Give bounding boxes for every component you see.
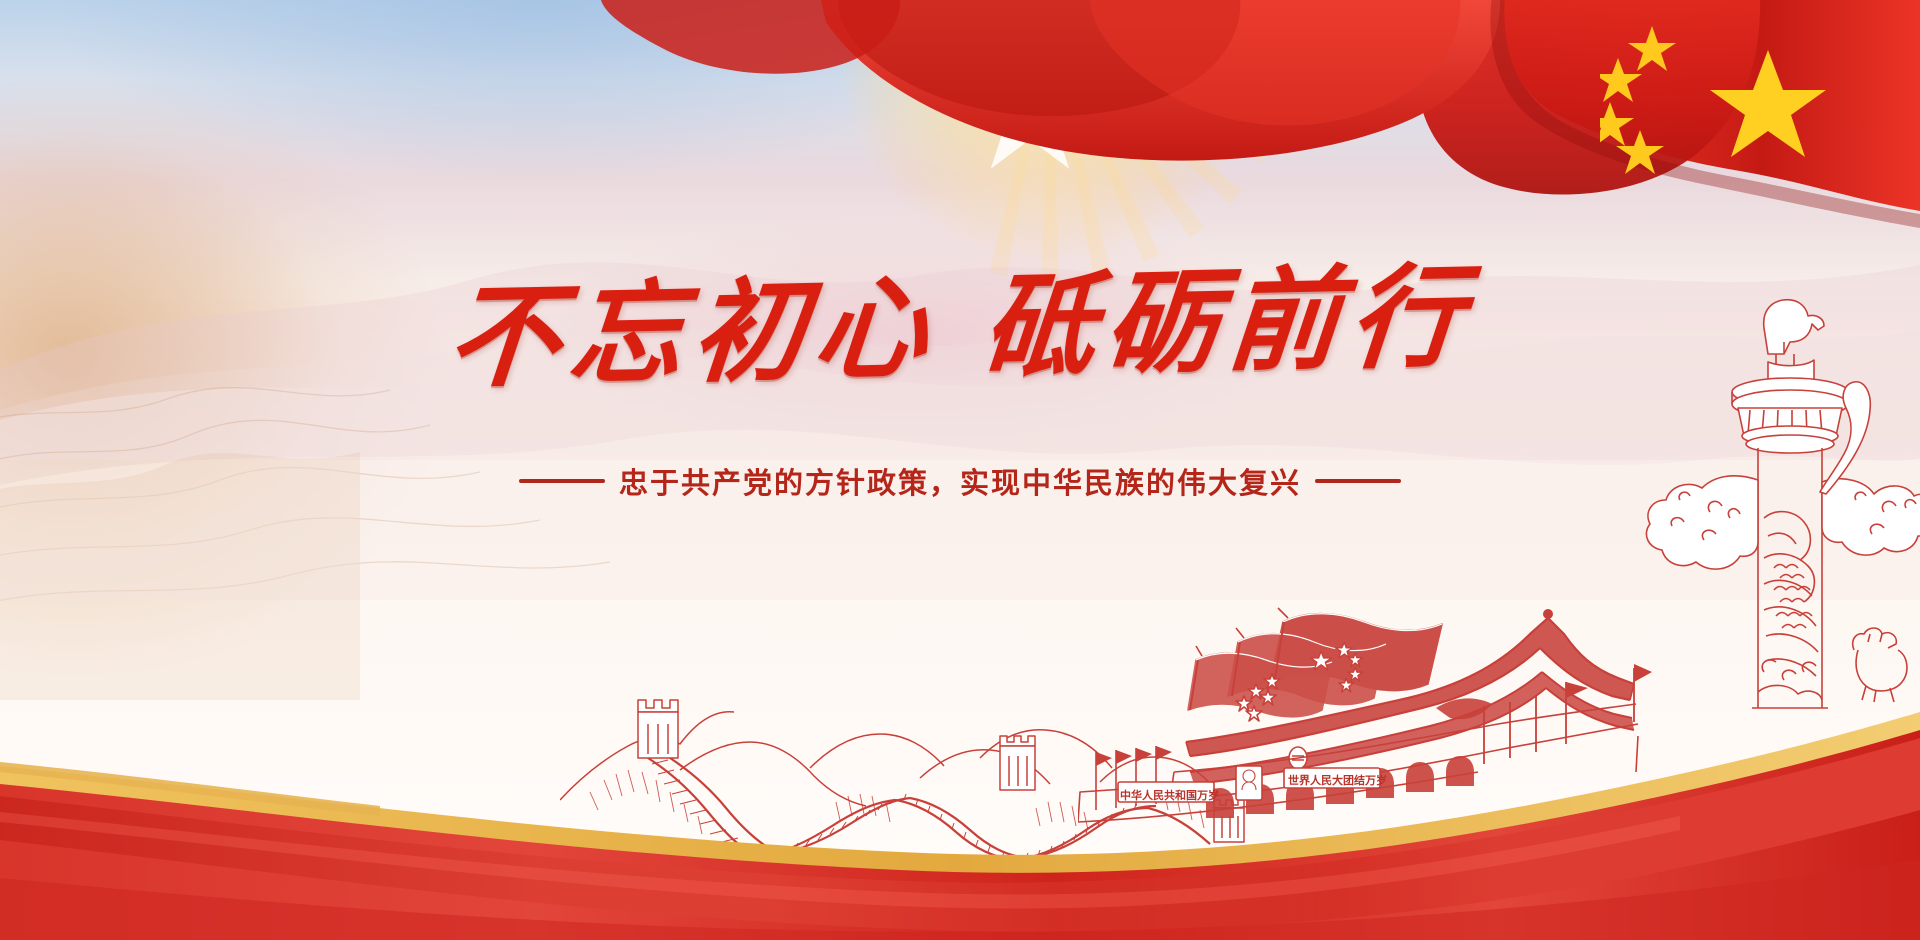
flag-star-small-3: [1600, 102, 1634, 146]
subtitle-rule-left: [519, 479, 605, 483]
subtitle-rule-right: [1315, 479, 1401, 483]
poster-subtitle: 忠于共产党的方针政策，实现中华民族的伟大复兴: [619, 460, 1301, 502]
flag-star-large: [1710, 50, 1826, 157]
flag-star-small-4: [1616, 130, 1664, 174]
flag-star-small-1: [1628, 26, 1676, 71]
flag-stars-group: [1600, 10, 1900, 200]
poster-canvas: 不忘初心砥砺前行 忠于共产党的方针政策，实现中华民族的伟大复兴: [0, 0, 1920, 940]
bottom-ribbon: [0, 560, 1920, 940]
flag-star-small-2: [1600, 58, 1642, 102]
